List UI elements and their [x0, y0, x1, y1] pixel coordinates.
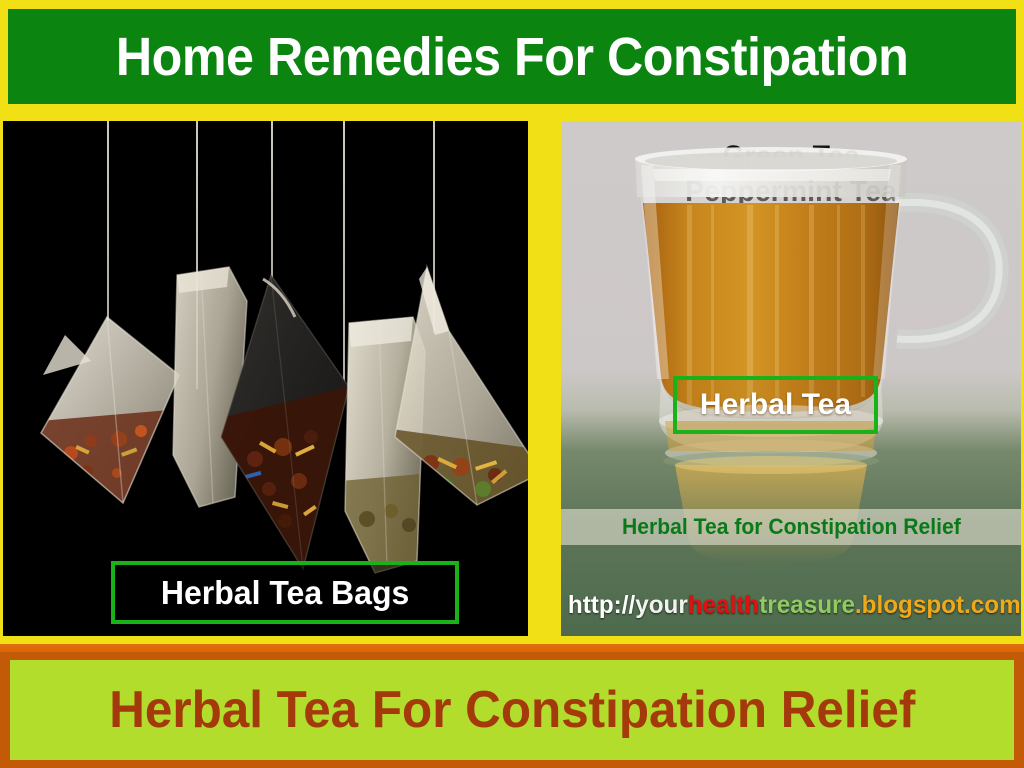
- herbal-tea-label: Herbal Tea: [673, 376, 878, 434]
- page-title: Home Remedies For Constipation: [116, 30, 908, 84]
- watermark-your: your: [635, 591, 688, 619]
- image-stage: Herbal Tea Bags Green Tea Peppermint Tea…: [0, 112, 1024, 644]
- footer-title: Herbal Tea For Constipation Relief: [109, 684, 915, 736]
- caption-band: Herbal Tea for Constipation Relief: [561, 509, 1021, 545]
- footer-inner: Herbal Tea For Constipation Relief: [10, 660, 1014, 760]
- tea-bag-string: [107, 121, 109, 321]
- tea-bags-scene: Herbal Tea Bags: [3, 121, 528, 636]
- tea-bag-pyramid: [391, 261, 528, 541]
- caption-text: Herbal Tea for Constipation Relief: [622, 514, 961, 540]
- poster-root: Home Remedies For Constipation: [0, 0, 1024, 768]
- herbal-tea-bags-label: Herbal Tea Bags: [111, 561, 459, 624]
- watermark-treasure: treasure: [759, 591, 855, 619]
- footer-band: Herbal Tea For Constipation Relief: [0, 652, 1024, 768]
- tea-cup-scene: Green Tea Peppermint Tea Black Tea: [561, 121, 1021, 636]
- herbal-tea-label-text: Herbal Tea: [700, 390, 851, 420]
- watermark-url: http://yourhealthtreasure.blogspot.com: [568, 591, 1014, 620]
- tea-bag-string: [271, 121, 273, 281]
- left-panel: Herbal Tea Bags: [3, 121, 528, 636]
- watermark-health: health: [688, 591, 759, 619]
- herbal-tea-bags-label-text: Herbal Tea Bags: [161, 576, 409, 609]
- watermark-blogspot: .blogspot.com: [855, 591, 1021, 619]
- header-band: Home Remedies For Constipation: [0, 0, 1024, 112]
- watermark-protocol: http://: [568, 591, 635, 619]
- right-panel: Green Tea Peppermint Tea Black Tea: [561, 121, 1021, 636]
- header-inner: Home Remedies For Constipation: [8, 9, 1016, 104]
